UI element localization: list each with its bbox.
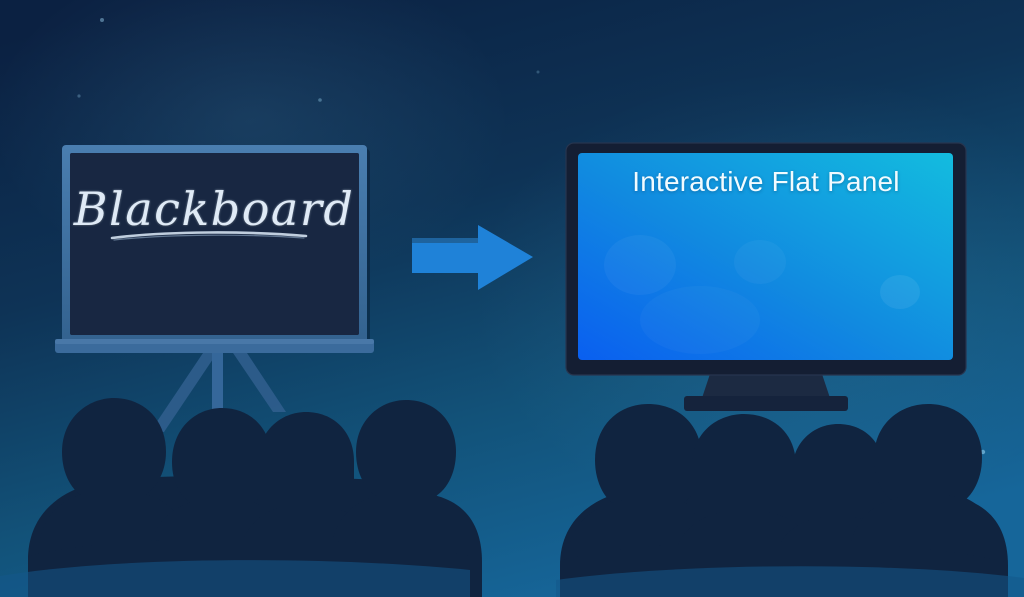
panel-stand-neck [702, 374, 830, 398]
flat-panel-group [566, 143, 966, 411]
scene-artwork [0, 0, 1024, 597]
easel-leg-center [212, 350, 223, 416]
illustration-canvas: Blackboard Interactive Flat Panel [0, 0, 1024, 597]
panel-stand-base [684, 396, 848, 411]
